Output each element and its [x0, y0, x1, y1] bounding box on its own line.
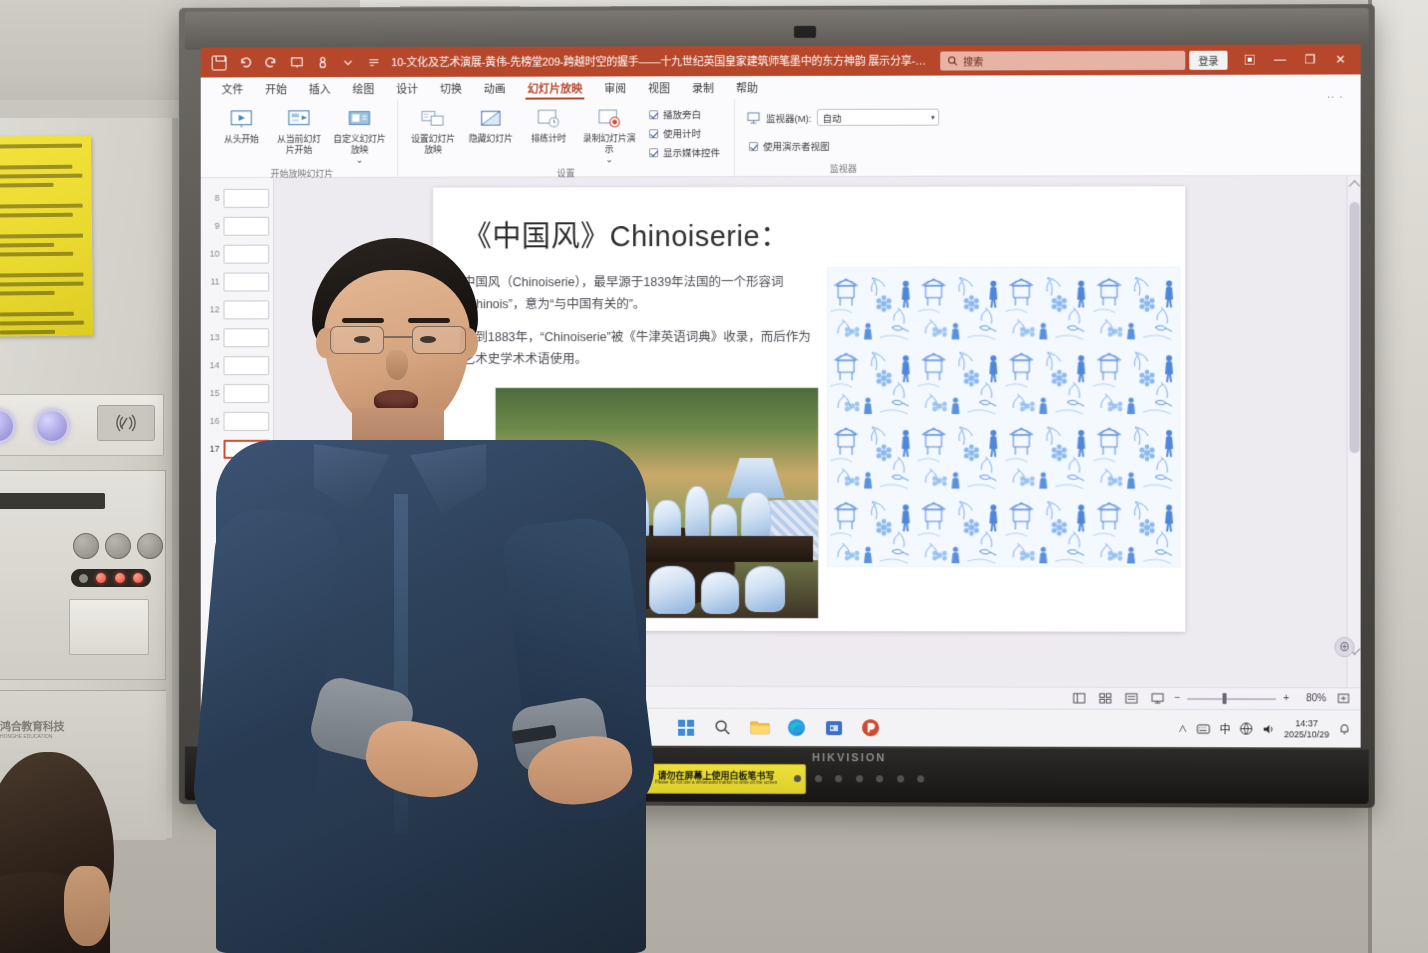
source-button-icon[interactable]: [917, 775, 924, 782]
reading-view-icon[interactable]: [1122, 690, 1141, 707]
thumbnail-preview: [224, 188, 270, 207]
cabinet-brand-sub: HONGHE EDUCATION: [0, 734, 120, 740]
status-right: − + 80%: [1070, 690, 1353, 708]
show-hidden-icons-icon[interactable]: ∧: [1178, 722, 1187, 735]
customize-qat-icon[interactable]: [364, 53, 383, 72]
zoom-slider[interactable]: [1187, 692, 1276, 704]
volume-icon[interactable]: [1262, 723, 1275, 735]
slide-sorter-icon[interactable]: [1096, 690, 1115, 707]
ribbon-group-monitors: 监视器(M): 自动 ▾ 使用演示者视图 监视器: [734, 99, 952, 177]
status-led-red: [133, 573, 143, 583]
menu-button-icon[interactable]: [815, 775, 822, 782]
normal-view-icon[interactable]: [1070, 690, 1089, 707]
search-icon[interactable]: [711, 715, 735, 739]
slideshow-view-icon[interactable]: [1148, 690, 1167, 707]
checkmark-icon: [649, 129, 658, 138]
tab-slideshow[interactable]: 幻灯片放映: [517, 76, 594, 99]
monitor-icon: [747, 112, 760, 124]
glasses-bridge: [384, 336, 412, 338]
tab-animations[interactable]: 动画: [473, 77, 517, 100]
fit-slide-to-window-button[interactable]: ⊕: [1334, 637, 1354, 657]
slideshow-options: 播放旁白 使用计时 显示媒体控件: [643, 103, 726, 159]
bell-icon[interactable]: [1338, 722, 1350, 735]
cabinet-access-door[interactable]: [69, 599, 149, 655]
chevron-down-icon[interactable]: [339, 53, 358, 72]
status-led-red: [96, 573, 106, 583]
speaker-dial[interactable]: [105, 533, 131, 559]
maximize-icon[interactable]: ❐: [1296, 47, 1324, 71]
scrollbar-thumb[interactable]: [1350, 202, 1360, 453]
glasses-lens-left: [330, 326, 384, 354]
chevron-down-icon[interactable]: ▾: [931, 113, 935, 121]
zoom-in-button[interactable]: +: [1283, 693, 1289, 704]
zoom-out-button[interactable]: −: [1175, 693, 1181, 704]
edge-browser-icon[interactable]: [784, 716, 808, 740]
monitor-label: 监视器(M):: [766, 110, 811, 124]
checkmark-icon: [749, 142, 758, 151]
porcelain-jar: [701, 572, 739, 614]
thumbnail-number: 9: [207, 221, 220, 231]
btn-setup-slideshow-label: 设置幻灯片放映: [407, 134, 459, 155]
card-slot: [0, 493, 105, 509]
monitor-select-value: 自动: [822, 110, 841, 124]
system-tray: ∧ 中: [1178, 718, 1350, 739]
hikvision-brand-logo: HIKVISION: [812, 752, 886, 764]
close-icon[interactable]: ✕: [1326, 47, 1354, 71]
presenter-nose: [386, 350, 408, 380]
tab-view[interactable]: 视图: [637, 76, 681, 99]
whiteboard-top-bezel: [185, 8, 1369, 50]
btn-hide-slide-label: 隐藏幻灯片: [469, 134, 513, 145]
btn-hide-slide[interactable]: 隐藏幻灯片: [464, 104, 518, 147]
checkbox-play-narrations-label: 播放旁白: [663, 107, 701, 121]
checkbox-use-timings[interactable]: 使用计时: [649, 126, 720, 140]
volume-up-button-icon[interactable]: [897, 775, 904, 782]
titlebar: 10-文化及艺术演展-黄伟-先榜堂209-跨越时空的握手——十九世纪英国皇家建筑…: [201, 44, 1361, 77]
ribbon: 从头开始: [201, 98, 1361, 178]
setup-slideshow-icon: [418, 106, 448, 132]
monitor-select[interactable]: 自动 ▾: [817, 109, 939, 126]
btn-from-current-slide-label: 从当前幻灯片开始: [273, 134, 325, 155]
tab-design[interactable]: 设计: [385, 77, 429, 100]
tab-transitions[interactable]: 切换: [429, 77, 473, 100]
home-button-icon[interactable]: [835, 775, 842, 782]
powerpoint-icon[interactable]: [859, 716, 883, 740]
btn-setup-slideshow[interactable]: 设置幻灯片放映: [406, 104, 460, 157]
microsoft-store-icon[interactable]: [822, 716, 846, 740]
undo-icon[interactable]: [235, 53, 254, 72]
search-box[interactable]: 搜索: [940, 50, 1185, 70]
search-icon: [947, 55, 958, 66]
btn-custom-slideshow-label: 自定义幻灯片放映: [331, 134, 389, 155]
thumbnail-slide-8[interactable]: 8: [201, 184, 273, 212]
presenter-eyebrow-left: [342, 318, 384, 323]
rfid-reader-icon[interactable]: [97, 405, 155, 441]
quick-access-toolbar: [207, 53, 384, 72]
zoom-slider-handle[interactable]: [1223, 693, 1227, 704]
search-placeholder: 搜索: [963, 53, 983, 68]
wall-equipment-cabinet: 鸿合教育科技 HONGHE EDUCATION: [0, 118, 178, 838]
wall-right-column: [1370, 0, 1428, 953]
whiteboard-control-buttons[interactable]: [794, 772, 924, 784]
volume-knob-right[interactable]: [35, 409, 69, 443]
btn-rehearse-timings-label: 排练计时: [531, 133, 566, 144]
checkbox-play-narrations[interactable]: 播放旁白: [649, 107, 720, 121]
start-presentation-icon[interactable]: [287, 53, 306, 72]
hide-slide-icon: [476, 106, 506, 132]
av-control-panel[interactable]: [0, 394, 164, 456]
btn-rehearse-timings[interactable]: 排练计时: [522, 103, 576, 146]
warning-label-en: Please do not use a whiteboard marker to…: [655, 781, 777, 786]
foreground-student-face: [64, 866, 110, 946]
tab-help[interactable]: 帮助: [725, 76, 769, 99]
tab-file[interactable]: 文件: [211, 77, 255, 100]
taskbar-clock[interactable]: 14:37 2025/10/29: [1284, 718, 1329, 739]
btn-from-current-slide[interactable]: 从当前幻灯片开始: [272, 104, 326, 157]
tab-insert[interactable]: 插入: [298, 77, 342, 100]
scroll-up-icon[interactable]: [1349, 180, 1360, 191]
clock-date: 2025/10/29: [1284, 729, 1329, 740]
start-button-icon[interactable]: [674, 715, 698, 739]
toile-de-jouy-chinoiserie-pattern[interactable]: [827, 267, 1180, 568]
camera-icon: [794, 26, 816, 38]
toile-pattern-graphic: [828, 268, 1179, 567]
checkmark-icon: [649, 148, 658, 157]
fit-to-window-icon[interactable]: [1333, 690, 1352, 707]
zoom-percent[interactable]: 80%: [1296, 693, 1326, 704]
btn-custom-slideshow[interactable]: 自定义幻灯片放映 ⌄: [330, 104, 390, 168]
volume-knob-left[interactable]: [0, 409, 15, 443]
power-button-icon[interactable]: [794, 775, 801, 782]
restore-down-icon[interactable]: ▣: [1236, 48, 1264, 72]
play-from-current-icon: [284, 106, 314, 132]
ribbon-group-title-monitors: 监视器: [743, 163, 944, 176]
ribbon-group-setup: 设置幻灯片放映 隐藏幻灯片: [397, 99, 734, 177]
network-icon[interactable]: [1240, 722, 1253, 735]
record-slideshow-icon: [594, 105, 624, 131]
checkbox-show-media-controls[interactable]: 显示媒体控件: [649, 145, 720, 159]
tab-review[interactable]: 审阅: [593, 76, 637, 99]
instruction-sticker: [0, 135, 93, 336]
speaker-dial[interactable]: [137, 533, 163, 559]
file-explorer-icon[interactable]: [748, 715, 772, 739]
ribbon-group-start-slideshow: 从头开始: [207, 100, 398, 177]
rehearse-timings-icon: [534, 106, 564, 132]
power-switch-icon[interactable]: [79, 574, 88, 583]
volume-down-button-icon[interactable]: [876, 775, 883, 782]
status-led-red: [115, 573, 125, 583]
checkbox-presenter-view[interactable]: 使用演示者视图: [749, 139, 830, 153]
zoom-slider-track: [1187, 697, 1276, 699]
btn-from-beginning-label: 从头开始: [224, 134, 259, 145]
clock-time: 14:37: [1284, 718, 1329, 729]
cabinet-brand-text: 鸿合教育科技: [0, 721, 64, 733]
play-from-start-icon: [227, 106, 257, 132]
classroom-scene: 鸿合教育科技 HONGHE EDUCATION: [0, 0, 1428, 953]
vertical-scrollbar[interactable]: ⊕: [1347, 176, 1361, 687]
btn-record-slideshow-label: 录制幻灯片演示: [580, 133, 638, 154]
chevron-down-icon[interactable]: ⌄: [356, 155, 363, 166]
tab-draw[interactable]: 绘图: [342, 77, 386, 100]
minimize-icon[interactable]: —: [1266, 48, 1294, 72]
checkbox-presenter-view-label: 使用演示者视图: [763, 139, 830, 153]
cabinet-drawer-panel[interactable]: [0, 470, 166, 680]
power-button-bar[interactable]: [71, 569, 151, 587]
tab-home[interactable]: 开始: [254, 77, 298, 100]
custom-slideshow-icon: [345, 106, 375, 132]
window-controls: 登录 ▣ — ❐ ✕: [1189, 47, 1354, 72]
btn-record-slideshow[interactable]: 录制幻灯片演示 ⌄: [579, 103, 639, 167]
ribbon-tabs: 文件 开始 插入 绘图 设计 切换 动画 幻灯片放映 审阅 视图 录制 帮助: [201, 74, 1361, 100]
checkbox-show-media-controls-label: 显示媒体控件: [663, 145, 720, 159]
save-icon[interactable]: [210, 53, 229, 72]
checkmark-icon: [649, 110, 658, 119]
signin-button[interactable]: 登录: [1189, 50, 1227, 69]
ime-icon[interactable]: 中: [1219, 721, 1230, 737]
tab-record[interactable]: 录制: [681, 76, 725, 99]
chevron-down-icon[interactable]: ⌄: [606, 155, 613, 166]
taskbar-apps: [674, 715, 883, 740]
presenter-person: [196, 232, 666, 953]
btn-from-beginning[interactable]: 从头开始: [215, 104, 269, 147]
presenter-eyebrow-right: [408, 318, 450, 323]
cabinet-brand-logo: 鸿合教育科技 HONGHE EDUCATION: [0, 718, 120, 742]
glasses-lens-right: [412, 326, 466, 354]
porcelain-jar: [745, 566, 785, 612]
window-title: 10-文化及艺术演展-黄伟-先榜堂209-跨越时空的握手——十九世纪英国皇家建筑…: [383, 53, 940, 71]
monitor-row: 监视器(M): 自动 ▾: [743, 103, 944, 126]
touch-mode-icon[interactable]: [313, 53, 332, 72]
keyboard-icon[interactable]: [1196, 724, 1210, 734]
speaker-dial[interactable]: [73, 533, 99, 559]
redo-icon[interactable]: [261, 53, 280, 72]
checkbox-use-timings-label: 使用计时: [663, 126, 701, 140]
thumbnail-number: 8: [207, 193, 220, 203]
back-button-icon[interactable]: [856, 775, 863, 782]
